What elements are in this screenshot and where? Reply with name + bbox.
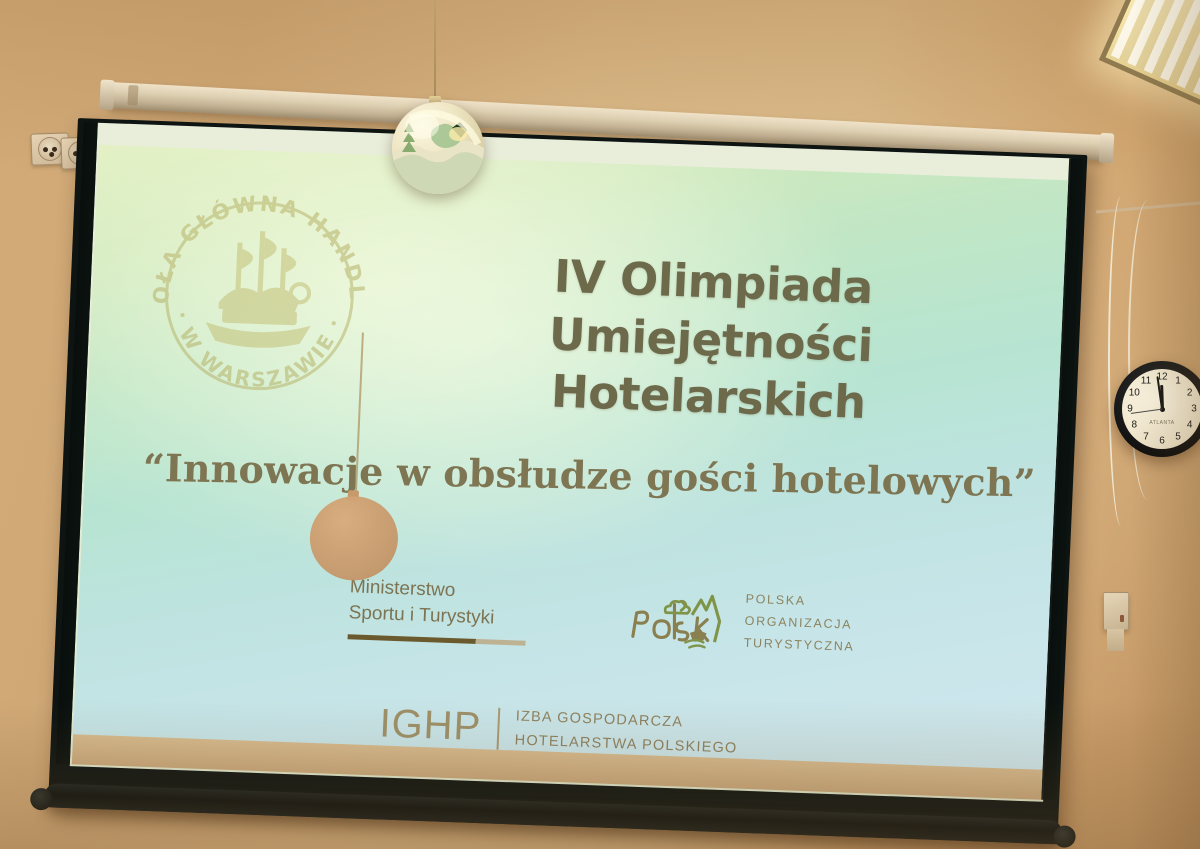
crest-ship-emblem (205, 229, 315, 349)
clock-numeral: 1 (1175, 376, 1181, 387)
polish-tourist-organisation-logo: POLSKA ORGANIZACJA TURYSTYCZNA (625, 584, 857, 658)
pot-line-3: TURYSTYCZNA (743, 632, 855, 658)
roller-cap-right (1099, 133, 1115, 164)
second-hand (1130, 409, 1162, 414)
sponsor-row: Ministerstwo Sportu i Turystyki (347, 574, 910, 660)
christmas-bauble-front (392, 102, 484, 194)
clock-numeral: 3 (1191, 404, 1197, 415)
slide-subtitle: “Innowacje w obsłudze gości hotelowych” (142, 445, 1003, 505)
clock-face: ATLANTA 121234567891011 (1122, 369, 1200, 449)
ministry-line-2: Sportu i Turystyki (348, 600, 527, 632)
polska-wordmark-icon (625, 587, 732, 651)
recessed-ceiling-light (1099, 0, 1200, 125)
ministry-logo: Ministerstwo Sportu i Turystyki (348, 574, 529, 646)
ighp-mark: IGHP (379, 702, 483, 751)
clock-numeral: 5 (1175, 431, 1181, 442)
clock-numeral: 7 (1143, 431, 1149, 442)
slide-title: IV Olimpiada Umiejętności Hotelarskich (387, 242, 1034, 438)
socket-hole (43, 147, 48, 152)
roller-cap-left (99, 79, 115, 110)
clock-numeral: 2 (1187, 388, 1193, 399)
ighp-divider (496, 708, 500, 750)
wall-clock: ATLANTA 121234567891011 (1114, 361, 1200, 457)
control-box-bracket (1107, 629, 1124, 651)
conference-room-scene: SZKOŁA GŁÓWNA HANDLOWA · W WARSZAWIE · (0, 0, 1200, 849)
christmas-bauble-back (308, 495, 400, 582)
clock-numeral: 4 (1187, 420, 1193, 431)
ornament-cord-front (434, 0, 436, 108)
status-led-icon (1120, 615, 1124, 622)
clock-brand: ATLANTA (1149, 420, 1174, 426)
roller-bracket (127, 85, 138, 106)
weight-bar-cap-right (1053, 825, 1076, 848)
clock-numeral: 8 (1132, 420, 1138, 431)
socket-hole (49, 152, 54, 157)
av-socket-face (38, 137, 63, 162)
projection-screen[interactable]: SZKOŁA GŁÓWNA HANDLOWA · W WARSZAWIE · (48, 118, 1087, 844)
projector-control-box[interactable] (1103, 592, 1129, 630)
projected-slide: SZKOŁA GŁÓWNA HANDLOWA · W WARSZAWIE · (73, 145, 1068, 770)
clock-numeral: 11 (1141, 376, 1151, 387)
ministry-rule (348, 635, 526, 647)
clock-numeral: 10 (1129, 388, 1140, 399)
clock-numeral: 6 (1159, 436, 1165, 447)
sgh-crest-logo: SZKOŁA GŁÓWNA HANDLOWA · W WARSZAWIE · (144, 179, 376, 409)
